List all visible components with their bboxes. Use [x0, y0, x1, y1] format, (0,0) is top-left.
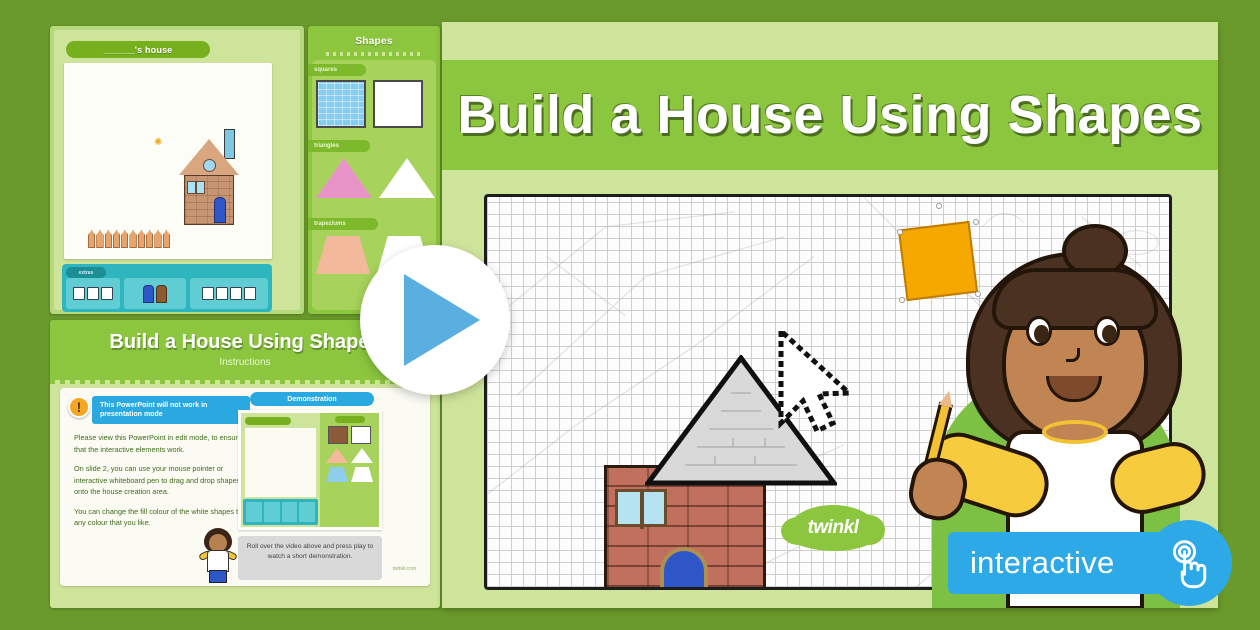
instructions-paragraphs: Please view this PowerPoint in edit mode…	[74, 432, 250, 537]
demo-shapes-label	[335, 416, 365, 423]
shapes-group-label-trapeziums: trapeziums	[308, 218, 378, 230]
play-triangle-icon	[404, 274, 480, 366]
demo-trapezium-white	[351, 467, 373, 482]
tap-hand-icon	[1146, 520, 1232, 606]
extras-label: extras	[66, 267, 106, 278]
mini-fence	[88, 230, 170, 248]
house-slide-title-pill: ______'s house	[66, 41, 210, 58]
play-button[interactable]	[360, 245, 510, 395]
shapes-slide-title: Shapes	[308, 36, 440, 47]
instructions-paragraph: On slide 2, you can use your mouse point…	[74, 463, 250, 498]
instructions-paragraph: You can change the fill colour of the wh…	[74, 506, 250, 529]
demo-shape-row	[323, 448, 376, 463]
extras-panel[interactable]: extras	[62, 264, 272, 312]
window-swatch-icon[interactable]	[87, 287, 99, 300]
butterfly-icon: ✺	[154, 137, 162, 148]
extras-group-windows[interactable]	[66, 278, 120, 309]
demo-triangle-peach	[326, 448, 348, 463]
door-swatch-icon[interactable]	[156, 285, 167, 303]
selection-handle[interactable]	[899, 297, 905, 303]
shapes-group-label-squares: squares	[308, 64, 366, 76]
demo-shape-row	[323, 426, 376, 444]
instructions-body: ! This PowerPoint will not work in prese…	[60, 388, 430, 586]
demo-trapezium-blue	[326, 467, 348, 482]
instructions-footer: twinkl.com	[70, 566, 420, 578]
shape-square-white[interactable]	[373, 80, 423, 128]
mini-round-window	[203, 159, 216, 172]
shape-door[interactable]	[660, 547, 708, 590]
demo-house-label	[245, 417, 291, 425]
selection-handle[interactable]	[897, 229, 903, 235]
thumbnail-house-inner: ______'s house ✺ extras	[54, 30, 300, 310]
main-preview-slide[interactable]: Build a House Using Shapes	[442, 22, 1218, 608]
instructions-paragraph: Please view this PowerPoint in edit mode…	[74, 432, 250, 455]
shape-trapezium-peach[interactable]	[316, 236, 370, 274]
demo-square-brown	[328, 426, 348, 444]
demo-square-white	[351, 426, 371, 444]
shape-square-blue[interactable]	[316, 80, 366, 128]
object-swatch-icon[interactable]	[244, 287, 256, 300]
warning-banner: This PowerPoint will not work in present…	[92, 396, 250, 424]
exclamation-icon: !	[68, 396, 90, 418]
demo-shape-row	[323, 467, 376, 482]
object-swatch-icon[interactable]	[230, 287, 242, 300]
window-swatch-icon[interactable]	[73, 287, 85, 300]
house-slide-title: ______'s house	[104, 45, 173, 55]
dotted-divider	[326, 52, 422, 56]
object-swatch-icon[interactable]	[216, 287, 228, 300]
thumbnail-house-slide[interactable]: ______'s house ✺ extras	[50, 26, 304, 314]
shape-window[interactable]	[615, 489, 667, 527]
extras-group-doors[interactable]	[124, 278, 186, 309]
twinkl-logo: twinkl	[787, 505, 879, 551]
house-slide-canvas[interactable]: ✺	[64, 63, 272, 259]
shapes-group-label-triangles: triangles	[308, 140, 370, 152]
shape-triangle-white[interactable]	[379, 158, 435, 198]
door-swatch-icon[interactable]	[143, 285, 154, 303]
demo-extras-bar	[243, 499, 318, 525]
demo-shapes-area	[320, 413, 379, 527]
window-swatch-icon[interactable]	[101, 287, 113, 300]
demo-house-area	[241, 413, 320, 527]
extras-group-objects[interactable]	[190, 278, 268, 309]
demonstration-video-frame[interactable]	[238, 410, 382, 530]
twinkl-logo-text: twinkl	[787, 517, 879, 539]
shapes-row-squares[interactable]	[316, 80, 432, 128]
shapes-row-triangles[interactable]	[316, 158, 432, 198]
object-swatch-icon[interactable]	[202, 287, 214, 300]
interactive-badge: interactive	[948, 532, 1178, 594]
mini-window	[187, 181, 205, 194]
shape-triangle-pink[interactable]	[316, 158, 372, 198]
mini-house-illustration	[176, 125, 244, 235]
mouse-cursor-icon	[775, 327, 861, 435]
mini-door	[214, 197, 226, 223]
demo-triangle-white	[351, 448, 373, 463]
interactive-badge-label: interactive	[948, 545, 1115, 581]
page-title: Build a House Using Shapes	[442, 84, 1218, 146]
demonstration-tag: Demonstration	[250, 392, 374, 406]
demo-canvas	[245, 428, 316, 497]
